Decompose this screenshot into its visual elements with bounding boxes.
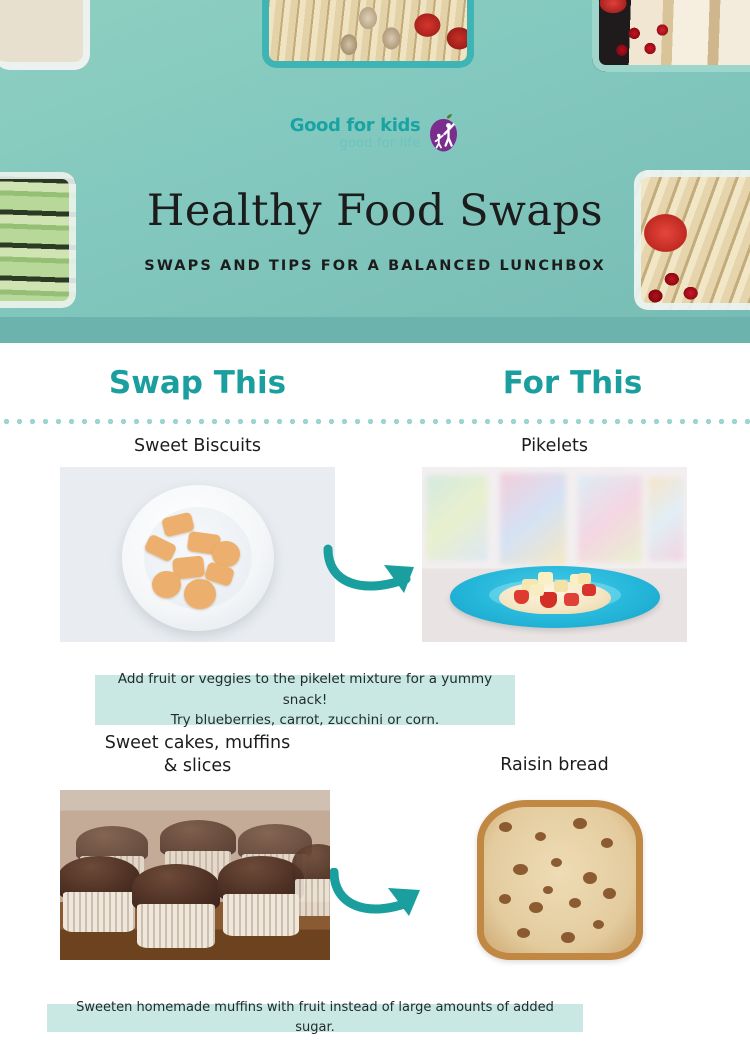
sweet-biscuits-photo xyxy=(60,467,335,642)
for-item-label: Pikelets xyxy=(422,435,687,458)
page-title: Healthy Food Swaps xyxy=(0,186,750,236)
for-item-label: Raisin bread xyxy=(422,754,687,777)
purple-apple-with-figures-icon xyxy=(427,114,460,152)
curved-arrow-right-icon xyxy=(330,868,434,928)
logo-primary-text: Good for kids xyxy=(290,117,421,135)
swap-item-label-line-2: & slices xyxy=(164,756,232,776)
page-subtitle: SWAPS AND TIPS FOR A BALANCED LUNCHBOX xyxy=(0,258,750,274)
swap-item-label: Sweet cakes, muffins & slices xyxy=(60,732,335,779)
tip-line-2: Try blueberries, carrot, zucchini or cor… xyxy=(171,712,439,728)
swap-item-label-line-1: Sweet cakes, muffins xyxy=(105,733,291,753)
curved-arrow-right-icon xyxy=(322,543,430,605)
for-this-heading: For This xyxy=(395,365,750,401)
tip-box: Sweeten homemade muffins with fruit inst… xyxy=(47,1004,583,1032)
brand-logo: Good for kids good for life xyxy=(0,114,750,152)
tip-line-1: Add fruit or veggies to the pikelet mixt… xyxy=(118,671,492,708)
tip-box: Add fruit or veggies to the pikelet mixt… xyxy=(95,675,515,725)
tip-text: Sweeten homemade muffins with fruit inst… xyxy=(59,998,571,1038)
lunchbox-grapes-sandwich-photo xyxy=(0,0,90,70)
row-images xyxy=(0,467,750,642)
header-banner: Good for kids good for life Healthy Food… xyxy=(0,0,750,317)
logo-secondary-text: good for life xyxy=(290,137,421,150)
tip-text: Add fruit or veggies to the pikelet mixt… xyxy=(107,669,503,732)
column-headings: Swap This For This xyxy=(0,365,750,401)
lunchbox-crackers-eggs-strawberries-photo xyxy=(262,0,474,68)
swap-row-muffins-raisinbread: Sweet cakes, muffins & slices Raisin bre… xyxy=(0,732,750,970)
row-images xyxy=(0,790,750,970)
raisin-bread-slice-photo xyxy=(462,790,657,970)
pikelets-with-fruit-photo xyxy=(422,467,687,642)
dotted-divider xyxy=(0,418,750,425)
swap-item-label: Sweet Biscuits xyxy=(60,435,335,458)
swap-row-biscuits-pikelets: Sweet Biscuits Pikelets xyxy=(0,435,750,642)
lunchbox-currants-sandwiches-photo xyxy=(592,0,750,72)
bread-slice xyxy=(477,800,643,960)
chocolate-muffins-photo xyxy=(60,790,330,960)
header-divider-band xyxy=(0,317,750,343)
swap-this-heading: Swap This xyxy=(0,365,395,401)
